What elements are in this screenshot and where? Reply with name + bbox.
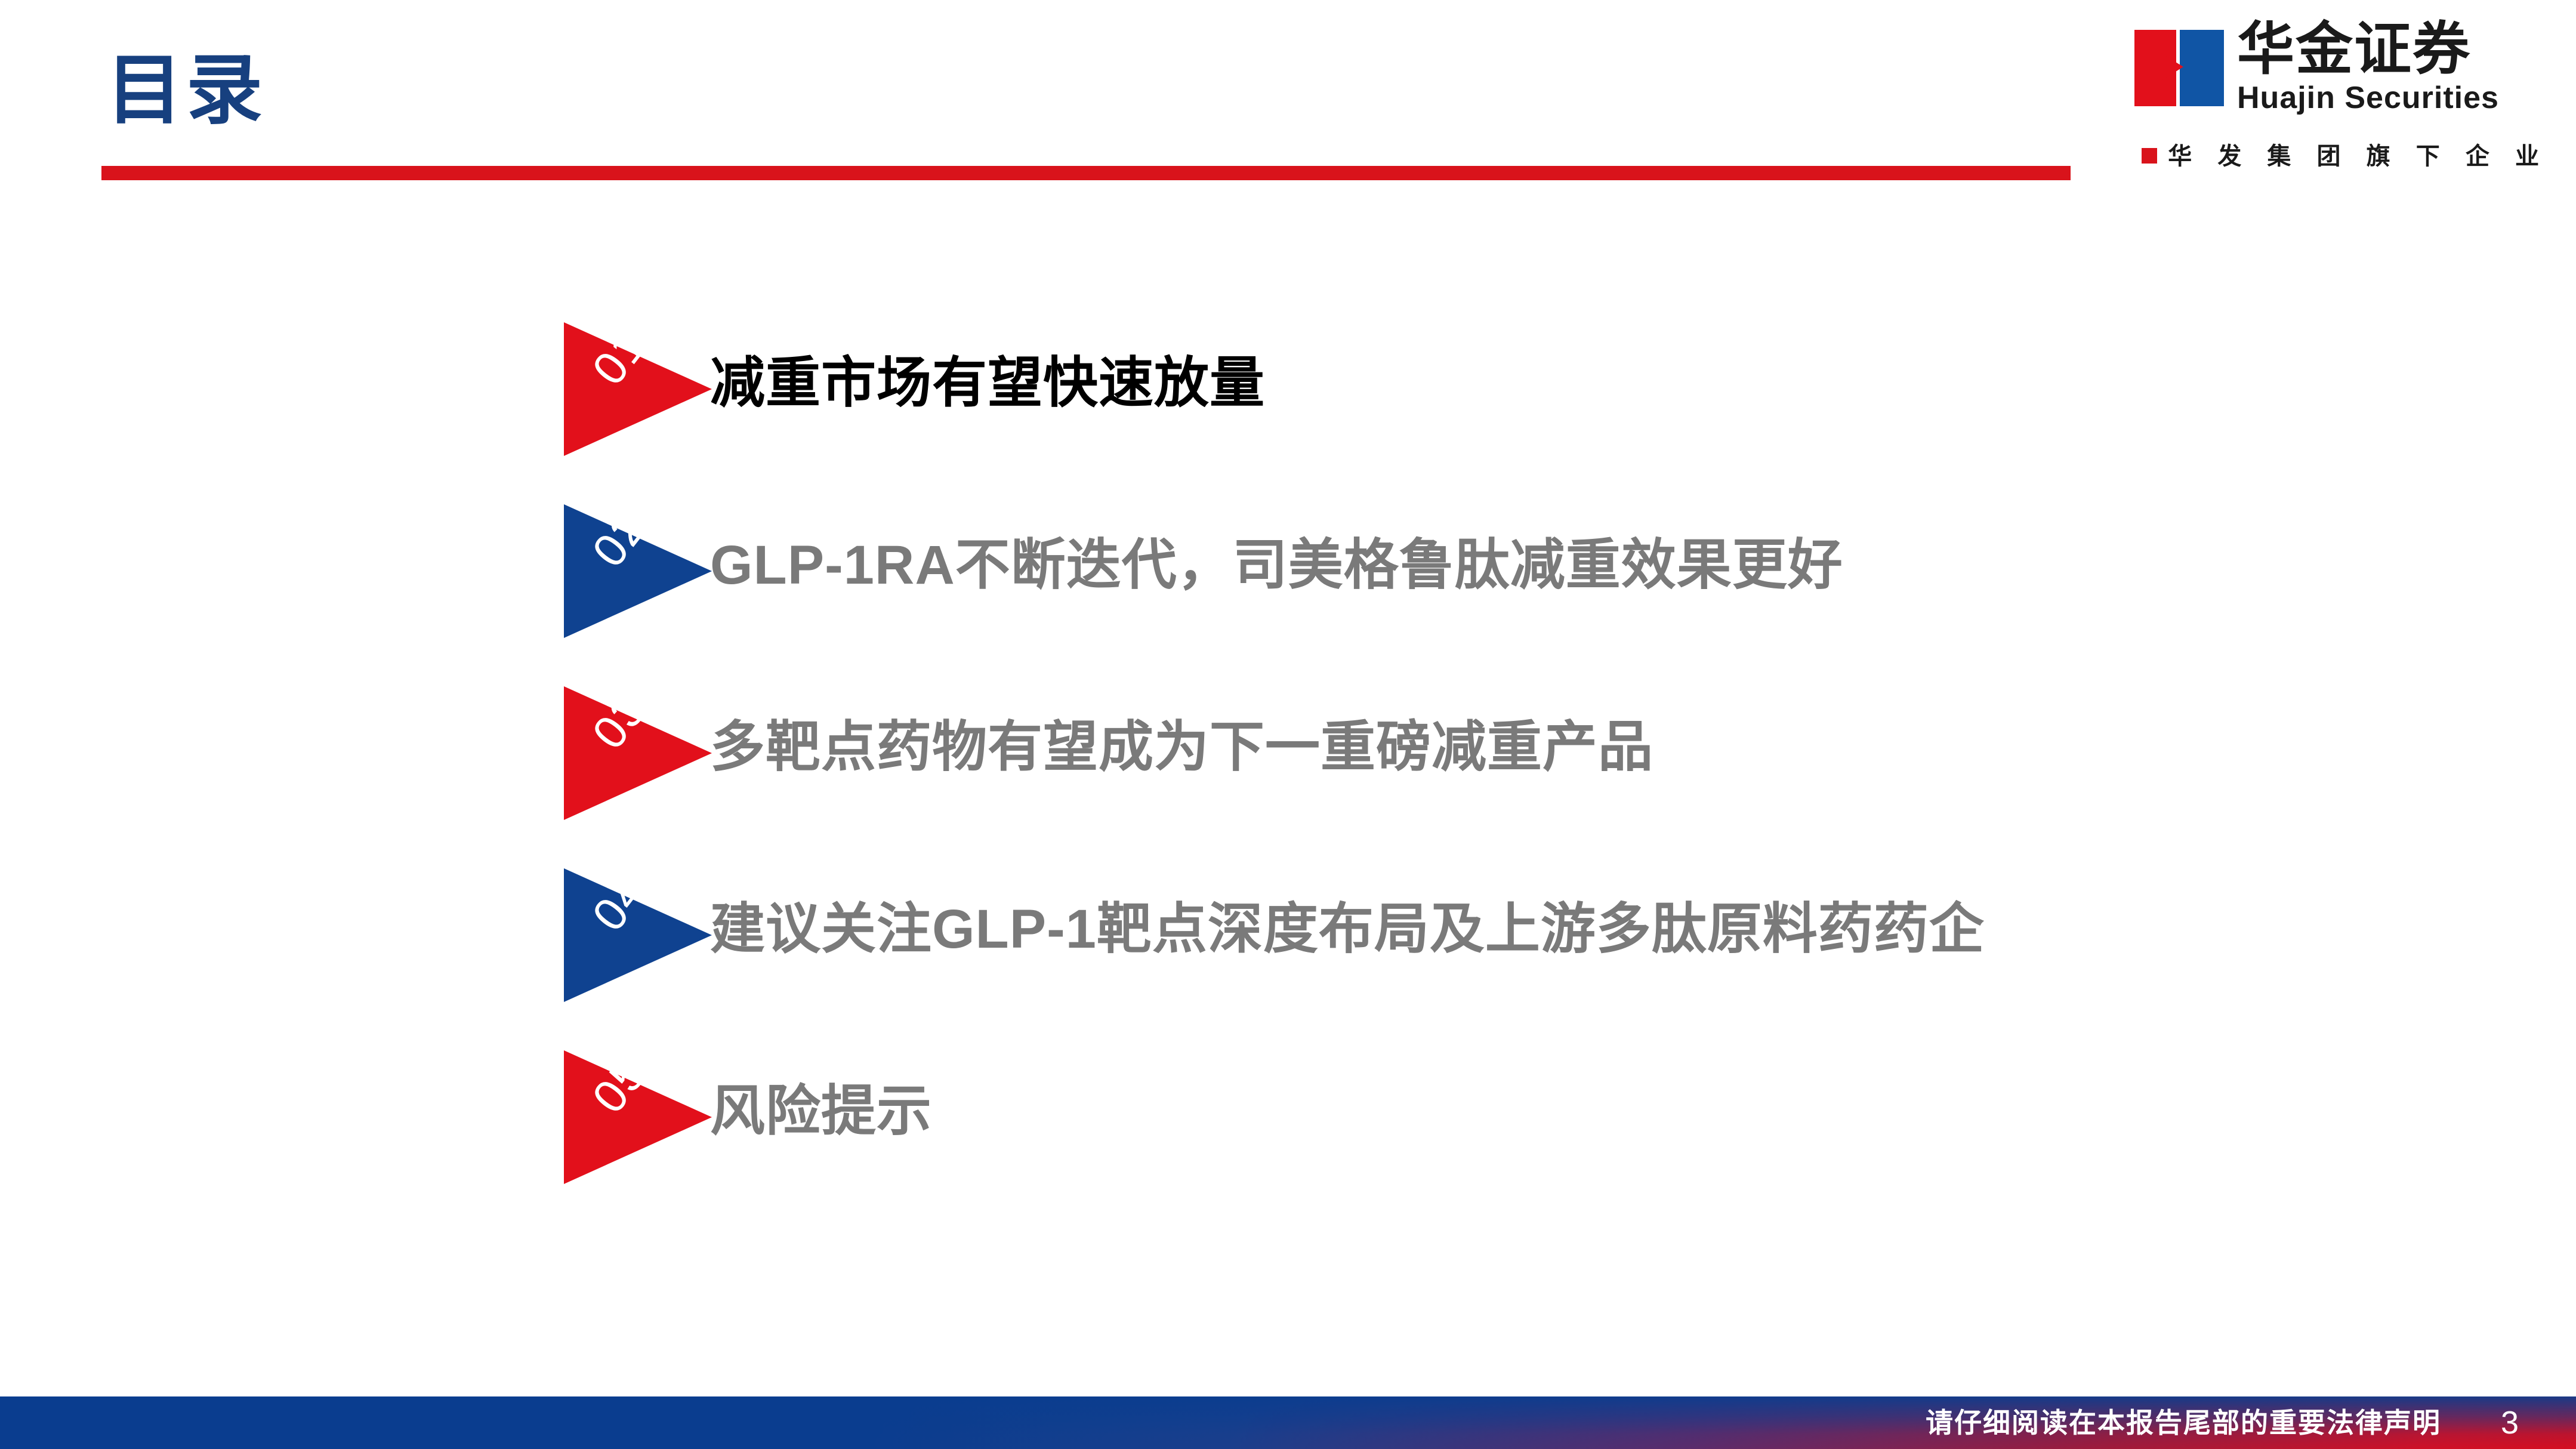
toc-item-01[interactable]: 01 减重市场有望快速放量 bbox=[0, 322, 2576, 504]
toc-list: 01 减重市场有望快速放量 02 GLP-1RA不断迭代，司美格鲁肽减重效果更好… bbox=[0, 322, 2576, 1232]
toc-item-04[interactable]: 04 建议关注GLP-1靶点深度布局及上游多肽原料药药企 bbox=[0, 868, 2576, 1050]
brand-logo: 华金证券 Huajin Securities 华 发 集 团 旗 下 企 业 bbox=[2134, 20, 2552, 181]
toc-marker-05: 05 bbox=[564, 1050, 712, 1184]
footer-legal-note: 请仔细阅读在本报告尾部的重要法律声明 bbox=[1926, 1409, 2441, 1436]
logo-tagline-dot-icon bbox=[2142, 148, 2157, 164]
toc-item-02[interactable]: 02 GLP-1RA不断迭代，司美格鲁肽减重效果更好 bbox=[0, 504, 2576, 686]
logo-name-en: Huajin Securities bbox=[2237, 81, 2499, 115]
logo-name-cn: 华金证券 bbox=[2237, 20, 2499, 79]
toc-label-04[interactable]: 建议关注GLP-1靶点深度布局及上游多肽原料药药企 bbox=[710, 897, 1985, 962]
toc-marker-03: 03 bbox=[564, 686, 712, 820]
logo-mark-blue-bar bbox=[2180, 30, 2224, 106]
footer-page-number: 3 bbox=[2501, 1407, 2519, 1439]
slide-footer: 请仔细阅读在本报告尾部的重要法律声明 3 bbox=[0, 1396, 2576, 1449]
logo-tagline: 华 发 集 团 旗 下 企 业 bbox=[2168, 144, 2549, 168]
logo-mark-arrow-notch bbox=[2158, 51, 2183, 82]
toc-marker-01: 01 bbox=[564, 322, 712, 456]
logo-tagline-text: 华 发 集 团 旗 下 企 业 bbox=[2168, 143, 2549, 169]
toc-marker-04: 04 bbox=[564, 868, 712, 1002]
logo-wordmark: 华金证券 Huajin Securities bbox=[2237, 20, 2499, 115]
toc-label-02[interactable]: GLP-1RA不断迭代，司美格鲁肽减重效果更好 bbox=[710, 533, 1843, 598]
slide-header: 目录 华金证券 Huajin Securities 华 发 集 团 旗 下 企 … bbox=[0, 0, 2576, 197]
huajin-logo-mark-icon bbox=[2134, 30, 2224, 106]
toc-label-05[interactable]: 风险提示 bbox=[710, 1079, 932, 1144]
title-underline-rule bbox=[101, 166, 2071, 180]
toc-label-01[interactable]: 减重市场有望快速放量 bbox=[710, 351, 1265, 416]
toc-item-03[interactable]: 03 多靶点药物有望成为下一重磅减重产品 bbox=[0, 686, 2576, 868]
logo-row: 华金证券 Huajin Securities bbox=[2134, 20, 2499, 115]
page-title: 目录 bbox=[106, 53, 266, 129]
toc-item-05[interactable]: 05 风险提示 bbox=[0, 1050, 2576, 1232]
toc-label-03[interactable]: 多靶点药物有望成为下一重磅减重产品 bbox=[710, 715, 1653, 780]
toc-marker-02: 02 bbox=[564, 504, 712, 638]
